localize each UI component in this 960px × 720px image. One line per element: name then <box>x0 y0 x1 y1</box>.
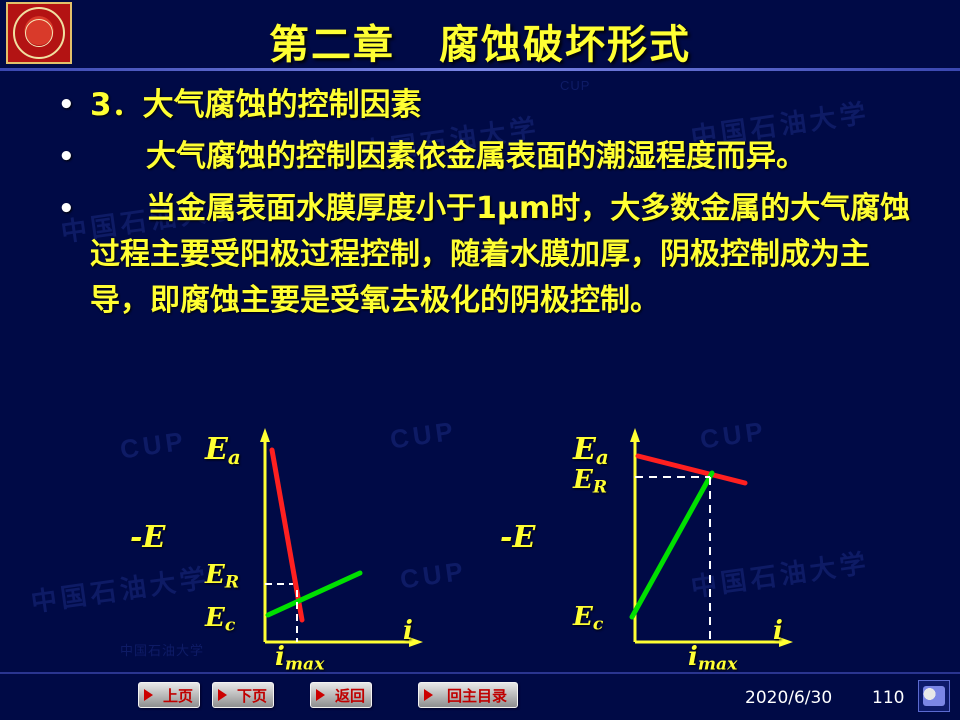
slide-date: 2020/6/30 <box>745 688 832 708</box>
slide-page-number: 110 <box>872 688 904 708</box>
paragraph-text: 大气腐蚀的控制因素依金属表面的潮湿程度而异。 <box>146 139 806 174</box>
main-menu-label: 回主目录 <box>447 687 507 705</box>
corner-logo-icon <box>918 680 950 712</box>
label-imax-left: imax <box>275 642 324 674</box>
page-title: 第二章腐蚀破坏形式 <box>0 12 960 70</box>
triangle-icon <box>218 689 227 701</box>
label-imax-right: imax <box>688 642 737 674</box>
next-page-button[interactable]: 下页 <box>212 682 274 708</box>
bullet-paragraph: • 大气腐蚀的控制因素依金属表面的潮湿程度而异。 <box>48 134 928 180</box>
label-i-axis-left: i <box>403 616 413 646</box>
slide-header: 第二章腐蚀破坏形式 <box>0 0 960 72</box>
label-ER-left: ER <box>205 560 239 592</box>
back-button[interactable]: 返回 <box>310 682 372 708</box>
paragraph-text: 3．大气腐蚀的控制因素 <box>90 87 422 123</box>
title-part2: 腐蚀破坏形式 <box>439 22 691 68</box>
label-Ec-right: Ec <box>573 602 603 634</box>
label-ER-right: ER <box>573 465 607 497</box>
university-logo-icon <box>6 2 72 64</box>
title-part1: 第二章 <box>269 22 395 68</box>
label-Ea-right: Ea <box>573 432 609 469</box>
bullet-paragraph: • 当金属表面水膜厚度小于1μm时，大多数金属的大气腐蚀过程主要受阳极过程控制，… <box>48 186 928 324</box>
back-label: 返回 <box>335 687 365 705</box>
label-Ea-left: Ea <box>205 432 241 469</box>
triangle-icon <box>144 689 153 701</box>
polarization-diagram-thick-film: Ea ER Ec -E imax i <box>520 420 820 670</box>
slide-body: • 3．大气腐蚀的控制因素 • 大气腐蚀的控制因素依金属表面的潮湿程度而异。 •… <box>48 82 928 330</box>
paragraph-text: 当金属表面水膜厚度小于1μm时，大多数金属的大气腐蚀过程主要受阳极过程控制，随着… <box>90 191 910 318</box>
bullet-paragraph: • 3．大气腐蚀的控制因素 <box>48 82 928 128</box>
polarization-diagram-thin-film: Ea ER Ec -E imax i <box>150 420 450 670</box>
next-page-label: 下页 <box>237 687 267 705</box>
main-menu-button[interactable]: 回主目录 <box>418 682 518 708</box>
triangle-icon <box>424 689 433 701</box>
prev-page-label: 上页 <box>163 687 193 705</box>
label-minus-E-right: -E <box>500 520 535 555</box>
label-Ec-left: Ec <box>205 603 235 635</box>
bullet-icon: • <box>58 82 75 128</box>
bullet-icon: • <box>58 134 75 180</box>
triangle-icon <box>316 689 325 701</box>
label-i-axis-right: i <box>773 616 783 646</box>
footer-divider <box>0 672 960 674</box>
title-divider <box>0 68 960 71</box>
label-minus-E-left: -E <box>130 520 165 555</box>
bullet-icon: • <box>58 186 75 232</box>
prev-page-button[interactable]: 上页 <box>138 682 200 708</box>
slide: 中国石油大学 中国石油大学 中国石油大学 CUP CUP CUP 中国石油大学 … <box>0 0 960 720</box>
